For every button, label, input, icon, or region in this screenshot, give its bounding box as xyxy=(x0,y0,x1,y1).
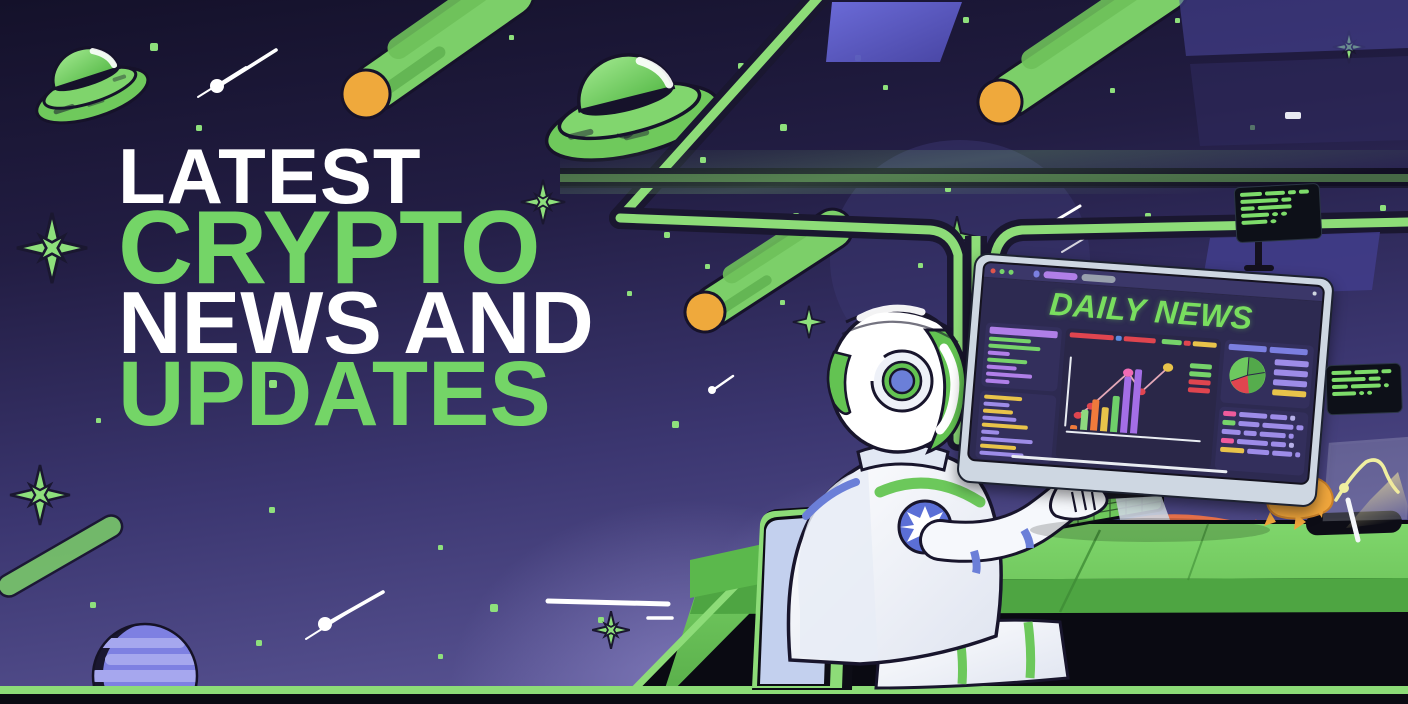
header-pill xyxy=(1269,347,1307,356)
feed-row xyxy=(1220,447,1301,458)
list-item xyxy=(982,416,1016,422)
text-pill xyxy=(1239,412,1267,419)
main-chart-panel[interactable] xyxy=(1055,328,1221,469)
status-dot-icon xyxy=(1312,291,1316,295)
legend-swatch xyxy=(1189,371,1211,378)
header-pill xyxy=(1228,344,1266,353)
list-item xyxy=(983,402,1009,408)
wall-bar xyxy=(1354,369,1378,374)
legend-swatch xyxy=(1193,341,1217,348)
wall-bar xyxy=(1332,385,1348,390)
list-item xyxy=(986,365,1016,371)
text-pill xyxy=(1221,429,1240,435)
headline-line-4: UPDATES xyxy=(118,354,594,435)
list-item xyxy=(989,337,1031,344)
text-pill xyxy=(1247,449,1269,456)
minimize-icon[interactable] xyxy=(999,268,1004,273)
tag-pill xyxy=(1223,411,1236,417)
list-item xyxy=(982,423,1028,430)
pie-chart xyxy=(1225,353,1270,398)
legend-swatch xyxy=(1124,336,1156,343)
bar xyxy=(1080,410,1089,431)
wall-bar xyxy=(1332,391,1356,396)
article-list-bottom[interactable] xyxy=(975,390,1057,463)
text-pill xyxy=(1243,430,1256,436)
list-item xyxy=(985,379,1009,385)
tag-pill xyxy=(1221,438,1234,444)
chart-plot-area xyxy=(1062,340,1217,443)
wall-bar xyxy=(1270,219,1276,223)
legend-swatch xyxy=(1184,340,1191,346)
legend-swatch xyxy=(1190,363,1212,370)
dot-pill xyxy=(1289,443,1294,448)
list-item xyxy=(981,430,999,435)
wall-screen-row xyxy=(1332,383,1396,389)
legend-swatch xyxy=(1274,369,1308,377)
list-item xyxy=(980,444,1016,451)
wall-bar xyxy=(1351,383,1381,388)
wall-screen-row xyxy=(1332,376,1396,382)
tab-indicator xyxy=(1033,270,1040,277)
text-pill xyxy=(1270,414,1287,420)
pie-row xyxy=(1225,353,1309,401)
maximize-icon[interactable] xyxy=(1008,269,1013,274)
wall-bar xyxy=(1281,212,1287,216)
bar xyxy=(1110,396,1120,433)
volume-bar-series xyxy=(1070,359,1143,434)
wall-bar xyxy=(1258,204,1292,210)
wall-screen-side[interactable] xyxy=(1325,363,1403,416)
page-title: LATEST CRYPTO NEWS AND UPDATES xyxy=(118,142,594,435)
wall-bar xyxy=(1272,212,1278,216)
legend-swatch xyxy=(1070,332,1114,340)
list-item xyxy=(988,351,1010,357)
wall-bar xyxy=(1281,197,1291,202)
dashboard-left-column xyxy=(975,322,1062,457)
article-list-top[interactable] xyxy=(981,322,1062,391)
legend-swatch xyxy=(1116,336,1122,341)
legend-swatch xyxy=(1272,389,1306,397)
list-item xyxy=(984,395,1022,402)
legend-swatch xyxy=(1188,379,1210,386)
list-item xyxy=(980,437,1032,445)
text-pill xyxy=(1237,439,1268,446)
legend-swatch xyxy=(1162,339,1182,345)
wall-bar xyxy=(1288,190,1296,194)
wall-bar xyxy=(1241,206,1255,211)
dot-pill xyxy=(1288,434,1293,439)
feed-rows-panel[interactable] xyxy=(1214,406,1308,475)
bar xyxy=(1070,425,1077,430)
wall-bar xyxy=(1240,198,1278,204)
monitor[interactable]: DAILY NEWS xyxy=(956,252,1335,508)
wall-bar xyxy=(1369,376,1381,380)
dashboard-right-column xyxy=(1214,339,1314,475)
wall-bar xyxy=(1241,212,1269,217)
text-pill xyxy=(1272,450,1292,456)
wall-bar xyxy=(1331,370,1351,375)
banner-canvas: LATEST CRYPTO NEWS AND UPDATES DAILY NEW… xyxy=(0,0,1408,704)
text-pill xyxy=(1238,421,1259,428)
monitor-viewport: DAILY NEWS xyxy=(967,261,1326,486)
wall-bar xyxy=(1359,391,1364,395)
list-item xyxy=(987,358,1027,365)
pie-legend xyxy=(1272,359,1309,397)
text-pill xyxy=(1259,431,1285,438)
text-pill xyxy=(1271,441,1286,447)
wall-screen-row xyxy=(1332,390,1396,396)
dot-pill xyxy=(1296,425,1303,431)
dot-pill xyxy=(1290,416,1295,421)
bar xyxy=(1100,407,1109,432)
address-bar[interactable] xyxy=(1081,273,1116,282)
close-icon[interactable] xyxy=(990,268,995,273)
list-item xyxy=(986,372,1032,379)
legend-swatch xyxy=(1274,359,1308,367)
wall-bar xyxy=(1384,383,1389,387)
tab-active[interactable] xyxy=(1043,271,1078,280)
wall-screen-top[interactable] xyxy=(1234,183,1323,243)
legend-swatch xyxy=(1273,379,1307,387)
wall-bar xyxy=(1299,189,1309,194)
chart-side-legend xyxy=(1188,363,1212,394)
wall-bar xyxy=(1367,391,1372,395)
bar xyxy=(1090,399,1100,431)
wall-screen-row xyxy=(1331,369,1395,375)
wall-bar xyxy=(1241,220,1267,225)
list-item xyxy=(988,344,1040,352)
wall-screen-row xyxy=(1241,217,1315,225)
dot-pill xyxy=(1295,452,1300,457)
wall-bar xyxy=(1332,377,1366,382)
text-pill xyxy=(1262,423,1293,430)
wall-bar xyxy=(1240,192,1262,197)
pie-stats-panel[interactable] xyxy=(1220,339,1314,408)
tag-pill xyxy=(1222,420,1235,426)
wall-bar xyxy=(1381,369,1391,373)
list-item xyxy=(983,409,1013,415)
tag-pill xyxy=(1220,447,1244,454)
wall-bar xyxy=(1265,191,1285,196)
